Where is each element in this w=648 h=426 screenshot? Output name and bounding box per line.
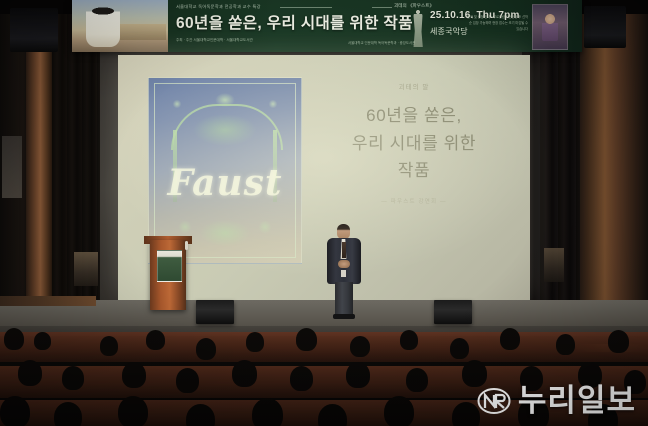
banner-painting-goethe bbox=[72, 0, 168, 52]
audience-head bbox=[4, 328, 24, 350]
audience-head bbox=[34, 332, 51, 350]
audience-head bbox=[350, 336, 370, 357]
audience-head bbox=[118, 396, 148, 426]
audience-head bbox=[500, 328, 520, 350]
stage-chair-right bbox=[544, 248, 564, 282]
slide-footnote: ― 파우스트 강연회 ― bbox=[314, 197, 514, 205]
audience-head bbox=[406, 368, 428, 392]
stage-monitor-speaker-left bbox=[196, 300, 234, 324]
book-title-text: Faust bbox=[149, 162, 301, 204]
audience-head bbox=[452, 402, 480, 426]
audience-head bbox=[232, 360, 257, 387]
slide-text-block: 괴테의 말 60년을 쏟은, 우리 시대를 위한 작품 ― 파우스트 강연회 ― bbox=[314, 81, 514, 205]
audience-head bbox=[346, 362, 370, 388]
speaker-name-badge bbox=[341, 270, 346, 277]
speaker-trousers bbox=[335, 282, 353, 316]
banner-title: 60년을 쏟은, 우리 시대를 위한 작품 bbox=[176, 11, 413, 33]
ceiling-speaker-right-icon bbox=[584, 6, 626, 48]
banner-divider-rule-1 bbox=[280, 7, 332, 8]
audience-head bbox=[608, 330, 629, 353]
audience-head bbox=[290, 366, 313, 391]
audience-head bbox=[556, 334, 575, 355]
banner-painting-landscape bbox=[120, 24, 166, 40]
banner-organizer-text: 주최 · 주관 서울대학교인문대학 · 서울대학교도서관 bbox=[176, 38, 253, 43]
audience-head bbox=[62, 366, 84, 390]
auditorium-photo: 서울대학교 독어독문학과 전공학과 교수 특강 괴테의 《파우스트》 60년을 … bbox=[0, 0, 648, 426]
audience-head bbox=[400, 330, 418, 350]
podium-sign-placard bbox=[157, 250, 182, 282]
banner-divider-rule-2 bbox=[372, 7, 392, 8]
banner-host-text: 서울대학교 인문대학 독어독문학과 · 중앙도서관 bbox=[348, 40, 415, 45]
speaker-hands bbox=[338, 260, 350, 268]
audience-head bbox=[450, 338, 469, 359]
speaker-necktie bbox=[342, 242, 346, 258]
audience-head bbox=[18, 360, 42, 386]
speaker-shoes bbox=[333, 314, 355, 319]
banner-portrait-photo bbox=[532, 4, 568, 50]
slide-headline-line-2: 우리 시대를 위한 bbox=[314, 130, 514, 158]
seat-row-back bbox=[0, 332, 648, 362]
stage-chair-left bbox=[74, 252, 98, 286]
audience-head bbox=[100, 336, 118, 356]
stage-left-apron bbox=[0, 296, 96, 306]
audience-head bbox=[176, 368, 199, 393]
nuri-ilbo-logo-icon bbox=[477, 387, 511, 415]
audience-head bbox=[196, 338, 216, 360]
watermark-text: 누리일보 bbox=[518, 385, 636, 416]
banner-venue: 세종국악당 bbox=[430, 26, 468, 37]
banner-work-label: 괴테의 《파우스트》 bbox=[394, 3, 434, 9]
watermark: 누리일보 bbox=[477, 385, 636, 416]
audience-head bbox=[54, 402, 82, 426]
slide-headline-line-1: 60년을 쏟은, bbox=[314, 102, 514, 130]
audience-head bbox=[246, 332, 264, 352]
slide-eyebrow: 괴테의 말 bbox=[314, 81, 514, 91]
audience-head bbox=[296, 328, 317, 351]
ceiling-speaker-left-icon bbox=[10, 8, 58, 52]
audience-head bbox=[122, 362, 146, 388]
audience-head bbox=[384, 396, 414, 426]
stage-monitor-speaker-right bbox=[434, 300, 472, 324]
left-wall-light-panel bbox=[2, 136, 22, 198]
left-wooden-column bbox=[26, 34, 52, 314]
event-banner: 서울대학교 독어독문학과 전공학과 교수 특강 괴테의 《파우스트》 60년을 … bbox=[72, 0, 582, 52]
banner-kicker-text: 서울대학교 독어독문학과 전공학과 교수 특강 bbox=[176, 4, 261, 10]
audience-head bbox=[146, 330, 165, 350]
podium-microphone-icon bbox=[185, 241, 188, 250]
banner-fineprint: 문의 및 신청 안내 · 무료관람 사전신청 후 선착순 입장 가능하며 현장 … bbox=[466, 14, 528, 32]
slide-headline-line-3: 작품 bbox=[314, 157, 514, 185]
audience-head bbox=[462, 360, 487, 387]
audience-head bbox=[0, 396, 30, 426]
speaker-person bbox=[322, 224, 366, 320]
speaker-head bbox=[337, 224, 350, 239]
audience-head bbox=[252, 398, 283, 426]
